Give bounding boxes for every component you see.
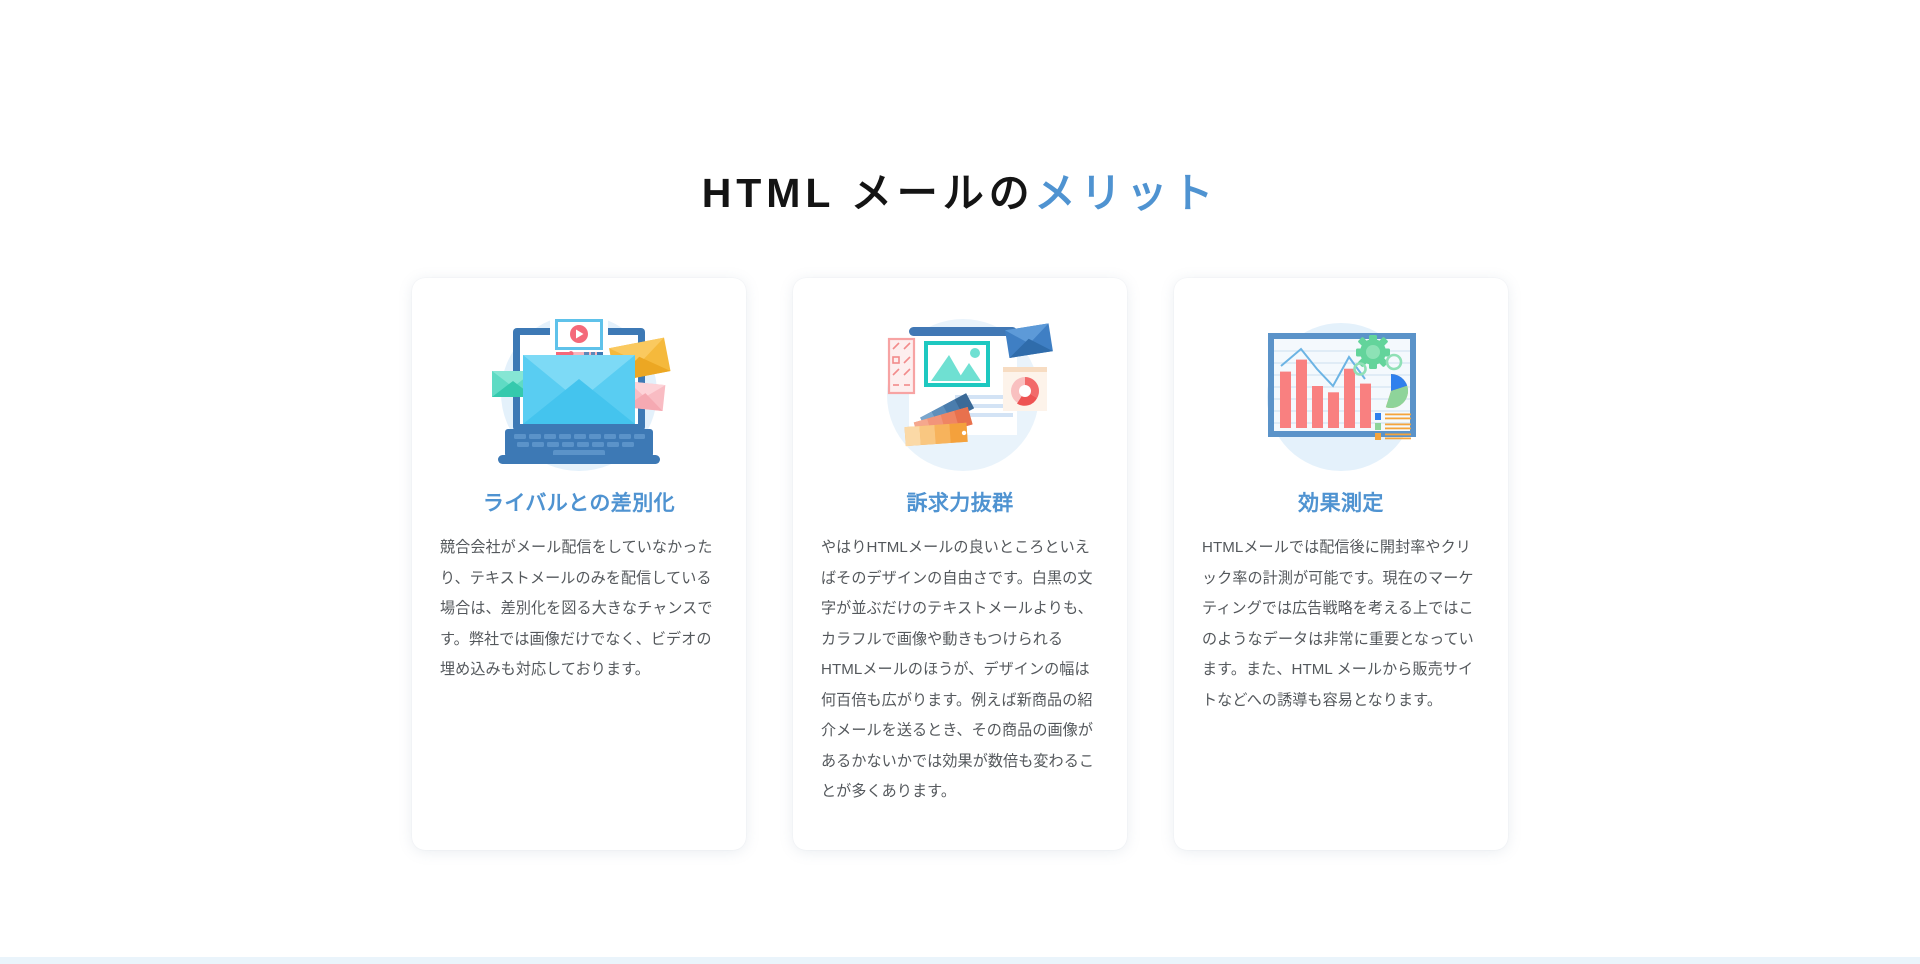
design-tools-palette-icon <box>865 304 1055 482</box>
page-title-accent-part: メリット <box>1035 170 1219 216</box>
benefit-card-body: やはりHTMLメールの良いところといえばそのデザインの自由さです。白黒の文字が並… <box>821 533 1099 807</box>
benefit-card-body: HTMLメールでは配信後に開封率やクリック率の計測が可能です。現在のマーケティン… <box>1202 533 1480 716</box>
analytics-dashboard-icon <box>1246 304 1436 482</box>
laptop-email-video-icon <box>484 304 674 482</box>
benefit-card-title: 訴求力抜群 <box>906 490 1013 517</box>
benefit-card-row: ライバルとの差別化 競合会社がメール配信をしていなかったり、テキストメールのみを… <box>0 278 1920 850</box>
benefit-card-appeal[interactable]: 訴求力抜群 やはりHTMLメールの良いところといえばそのデザインの自由さです。白… <box>793 278 1127 850</box>
benefit-card-body: 競合会社がメール配信をしていなかったり、テキストメールのみを配信している場合は、… <box>440 533 718 685</box>
page-root: HTML メールのメリット <box>0 0 1920 964</box>
page-title: HTML メールのメリット <box>0 167 1920 220</box>
benefit-card-measurement[interactable]: 効果測定 HTMLメールでは配信後に開封率やクリック率の計測が可能です。現在のマ… <box>1174 278 1508 850</box>
benefit-card-differentiation[interactable]: ライバルとの差別化 競合会社がメール配信をしていなかったり、テキストメールのみを… <box>412 278 746 850</box>
bottom-section-divider <box>0 957 1920 964</box>
page-title-dark-part: HTML メールの <box>702 170 1035 216</box>
benefit-card-title: 効果測定 <box>1298 490 1384 517</box>
benefit-card-title: ライバルとの差別化 <box>483 490 675 517</box>
